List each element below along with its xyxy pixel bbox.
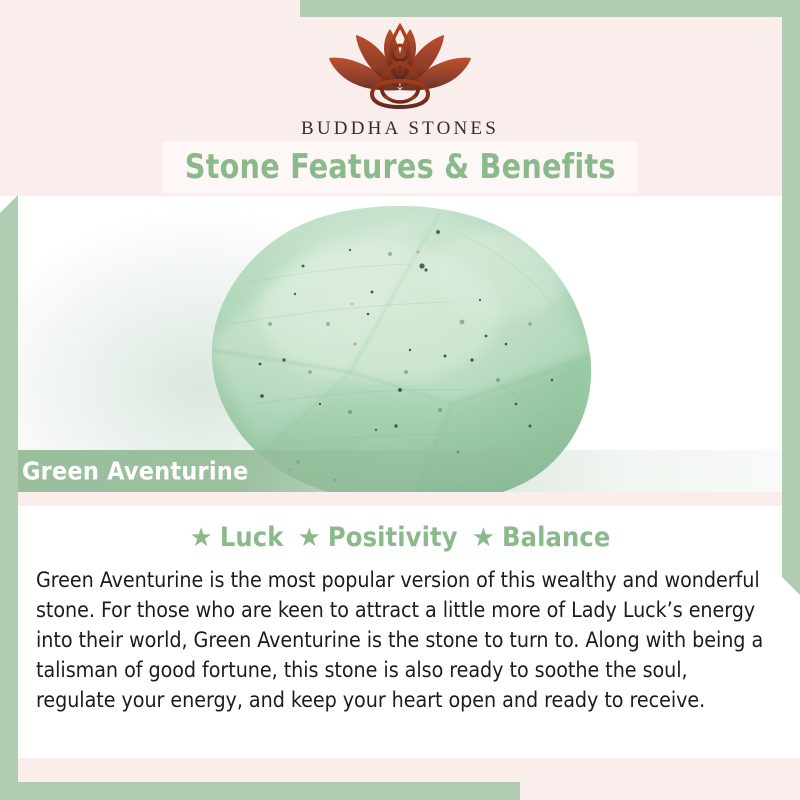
hero-image-area [0, 196, 800, 492]
benefit-item-balance: ★ Balance [472, 522, 611, 553]
benefit-label-balance: Balance [502, 522, 610, 553]
frame-right [782, 0, 800, 595]
benefit-item-positivity: ★ Positivity [298, 522, 458, 553]
star-icon: ★ [298, 524, 321, 550]
lotus-meditation-figure-icon [312, 18, 488, 116]
benefits-row: ★ Luck ★ Positivity ★ Balance [0, 522, 800, 553]
green-aventurine-stone-image [200, 204, 600, 492]
stone-illustration [200, 204, 600, 492]
brand-logo-block: BUDDHA STONES [0, 18, 800, 140]
poster-root: BUDDHA STONES [0, 0, 800, 800]
brand-name: BUDDHA STONES [0, 118, 800, 140]
frame-left [0, 195, 18, 800]
star-icon: ★ [472, 524, 495, 550]
section-divider [0, 492, 800, 506]
benefit-item-luck: ★ Luck [190, 522, 284, 553]
content-panel: ★ Luck ★ Positivity ★ Balance Green Aven… [0, 506, 800, 758]
star-icon: ★ [190, 524, 213, 550]
benefit-label-positivity: Positivity [328, 522, 458, 553]
frame-bottom-left [0, 782, 520, 800]
page-title: Stone Features & Benefits [185, 147, 616, 187]
benefit-label-luck: Luck [220, 522, 284, 553]
title-banner: Stone Features & Benefits [162, 141, 638, 193]
stone-description: Green Aventurine is the most popular ver… [36, 566, 766, 716]
frame-top-right [300, 0, 800, 17]
